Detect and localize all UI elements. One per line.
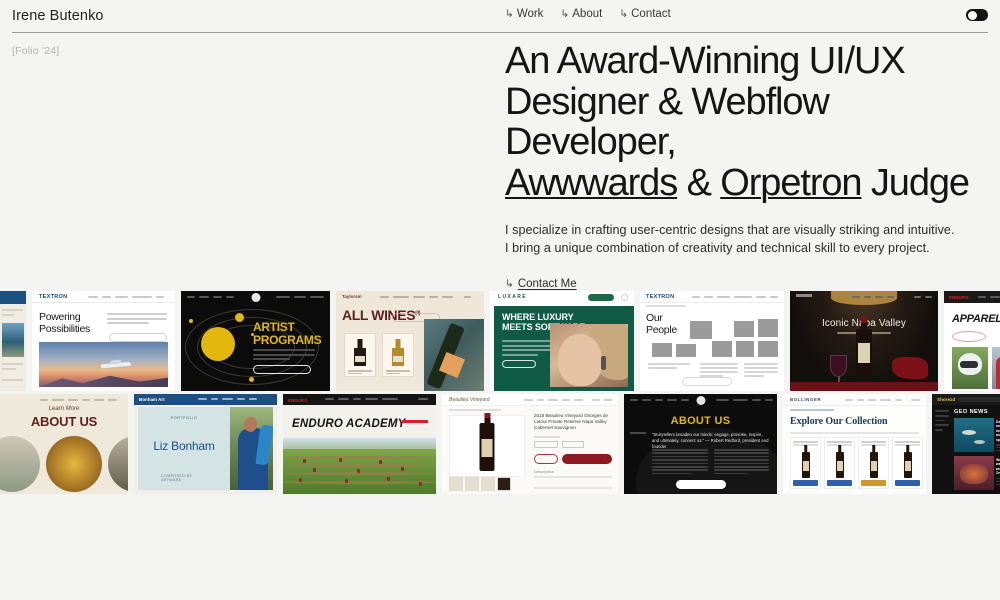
toggle-knob [968,11,977,20]
thumb-brand-label: Beaulieu Vineyard [449,397,490,403]
thumb-title: ABOUT US [31,414,97,429]
thumb-add-row [534,454,612,464]
thumb-image [424,319,484,391]
thumb-body-text [652,449,769,476]
thumb-register-button[interactable] [588,294,614,301]
thumb-panel: PORTFOLIO Liz Bonham COMPOSED BY ARTWARE [138,407,230,490]
nav-item-label: About [572,8,602,20]
thumb-title: ENDURO ACADEMY [292,418,406,430]
thumb-quantity-stepper[interactable] [534,454,558,464]
thumb-brand-label: LUXARE [498,294,527,300]
thumb-title: PoweringPossibilities [39,312,90,336]
thumb-image [449,415,525,477]
thumb-image [230,407,273,490]
thumb-body-text [744,363,778,379]
thumb-brand-label: BOLLINGER [790,397,821,402]
site-header: Irene Butenko ↳ Work ↳ About ↳ Contact [0,0,1000,32]
thumb-kicker: PORTFOLIO [171,415,198,420]
folio-label: [Folio '24] [12,45,59,57]
thumb-title: ABOUT US [624,415,777,427]
thumb-panel: WHERE LUXURYMEETS SOFTWARE [494,306,634,391]
project-thumb-textron-powering[interactable]: TEXTRON PoweringPossibilities [32,291,175,391]
thumb-bottle [856,329,872,379]
headline-link-awwwards[interactable]: Awwwards [505,162,677,204]
headline-line-2: Designer & Webflow Developer, [505,81,829,164]
thumb-title: OurPeople [646,313,677,336]
project-thumb-partial-left[interactable] [0,291,26,391]
thumb-cta-button[interactable] [502,360,536,368]
headline-line-1: An Award-Winning UI/UX [505,40,905,82]
thumb-bottle-red [344,333,376,377]
thumb-image [550,324,628,387]
thumb-header-bar [0,291,26,304]
project-thumb-luxare-software[interactable]: LUXARE WHERE LUXURYMEETS SOFTWARE [490,291,634,391]
thumb-sidebar[interactable] [935,410,949,434]
thumb-footer-bar [790,382,938,391]
main-nav: ↳ Work ↳ About ↳ Contact [505,8,671,20]
thumb-title: ARTISTPROGRAMS [253,321,321,346]
brand-logo[interactable]: Irene Butenko [12,8,104,24]
headline-link-orpetron[interactable]: Orpetron [720,162,861,204]
project-gallery: TEXTRON PoweringPossibilities [0,291,1000,494]
project-thumb-about-us-cream[interactable]: Learn More ABOUT US [0,394,128,494]
thumb-body-text [648,363,690,371]
thumb-brand-label: ENDURO [288,398,308,403]
thumb-product-title: 2018 Beaulieu Vineyard Georges de Latour… [534,413,612,432]
thumb-product-card[interactable] [858,437,889,489]
arrow-down-right-icon: ↳ [505,279,514,290]
thumb-brand-label: Bonham Art [139,397,165,402]
thumb-quote: “Storytellers broaden our minds: engage,… [652,432,769,450]
thumb-option-chip[interactable] [534,441,558,448]
contact-me-label: Contact Me [518,278,577,290]
thumb-gallery-strip[interactable] [449,477,511,491]
thumb-wine-glass-icon [830,355,847,377]
thumb-title: GEO NEWS [954,409,988,415]
project-thumb-apparel-co[interactable]: ENDURO APPAREL CO [944,291,1000,391]
headline-tail: Judge [861,162,969,204]
subcopy-line-1: I specialize in crafting user-centric de… [505,223,955,237]
project-thumb-textron-our-people[interactable]: TEXTRON OurPeople [640,291,784,391]
thumb-footer-label: COMPOSED BY ARTWARE [161,474,207,482]
thumb-description-label: Description [534,469,612,474]
project-thumb-all-wines[interactable]: Taylorsm ALL WINES(4) [336,291,484,391]
gallery-row-2: Learn More ABOUT US Bonham Art PORTFOLIO… [0,394,1000,494]
project-thumb-enduro-academy[interactable]: ENDURO ENDURO ACADEMY [283,394,436,494]
thumb-body-text [253,349,315,363]
thumb-title: APPAREL CO [952,313,1000,325]
page-title: An Award-Winning UI/UX Designer & Webflo… [505,41,993,204]
thumb-brand-label: ENDURO [949,295,969,300]
headline-sep: & [677,162,720,204]
thumb-bottle-white [382,333,414,377]
hero-content: An Award-Winning UI/UX Designer & Webflo… [505,41,993,292]
thumb-cta-button[interactable] [682,377,732,386]
project-thumb-wine-product-page[interactable]: Beaulieu Vineyard 2018 Beaulieu Vineyard… [442,394,618,494]
thumb-brand-label: TEXTRON [646,294,674,300]
thumb-search-input[interactable] [958,397,1000,402]
thumb-decor [831,291,897,305]
nav-item-work[interactable]: ↳ Work [505,8,543,20]
thumb-title: Explore Our Collection [790,416,887,427]
thumb-body-text [107,313,167,327]
nav-item-label: Contact [631,8,671,20]
thumb-caption: We cross waters around New Zealand [996,458,1000,487]
thumb-decor [952,331,986,342]
thumb-image [954,456,994,490]
dark-mode-toggle[interactable] [966,9,988,21]
thumb-product-card[interactable] [892,437,923,489]
thumb-image [108,436,128,492]
thumb-cta-button[interactable] [109,333,167,342]
thumb-image [46,436,102,492]
thumb-add-to-cart-button[interactable] [562,454,612,464]
contact-me-link[interactable]: ↳ Contact Me [505,278,577,290]
project-thumb-explore-collection[interactable]: BOLLINGER Explore Our Collection [783,394,926,494]
nav-item-label: Work [517,8,544,20]
thumb-brand-label: Taylorsm [342,294,362,299]
thumb-body-text [502,340,554,358]
project-thumb-iconic-napa-valley[interactable]: Iconic Napa Valley [790,291,938,391]
thumb-brand-label [796,294,812,297]
thumb-script-label: Learn More [49,406,80,412]
arrow-down-right-icon: ↳ [560,9,569,20]
thumb-image [39,342,168,387]
thumb-avatar-icon [621,294,628,301]
arrow-down-right-icon: ↳ [619,9,628,20]
thumb-seal-icon [251,293,260,302]
project-thumb-geo-news[interactable]: Shorezd GEO NEWS Deep diving uncovers lo… [932,394,1000,494]
thumb-image [0,436,40,492]
thumb-seal-icon [696,396,705,405]
thumb-product-card[interactable] [824,437,855,489]
arrow-down-right-icon: ↳ [505,9,514,20]
project-thumb-artist-programs[interactable]: ARTISTPROGRAMS [181,291,330,391]
nav-item-about[interactable]: ↳ About [560,8,602,20]
thumb-caption: Deep diving uncovers lost wrecks and for… [996,420,1000,453]
thumb-title: Liz Bonham [153,439,214,453]
thumb-option-chip[interactable] [562,441,584,448]
thumb-sun-icon [201,327,235,361]
thumb-cta-button[interactable] [253,365,311,374]
thumb-accent [402,420,428,423]
nav-item-contact[interactable]: ↳ Contact [619,8,670,20]
thumb-image [954,418,994,452]
subcopy-line-2: I bring a unique combination of creativi… [505,241,930,255]
hero-subcopy: I specialize in crafting user-centric de… [505,222,993,258]
hero-section: [Folio '24] An Award-Winning UI/UX Desig… [0,33,1000,283]
thumb-image [992,347,1000,389]
thumb-brand-label: TEXTRON [39,294,67,300]
thumb-cta-button[interactable] [676,480,726,489]
thumb-product-card[interactable] [790,437,821,489]
thumb-image [283,438,436,494]
project-thumb-about-us-dark[interactable]: ABOUT US “Storytellers broaden our minds… [624,394,777,494]
gallery-row-1: TEXTRON PoweringPossibilities [0,291,1000,391]
thumb-image [2,323,24,357]
thumb-brand-label: Shorezd [937,397,955,402]
project-thumb-liz-bonham[interactable]: Bonham Art PORTFOLIO Liz Bonham COMPOSED… [134,394,277,494]
thumb-image [952,347,988,389]
